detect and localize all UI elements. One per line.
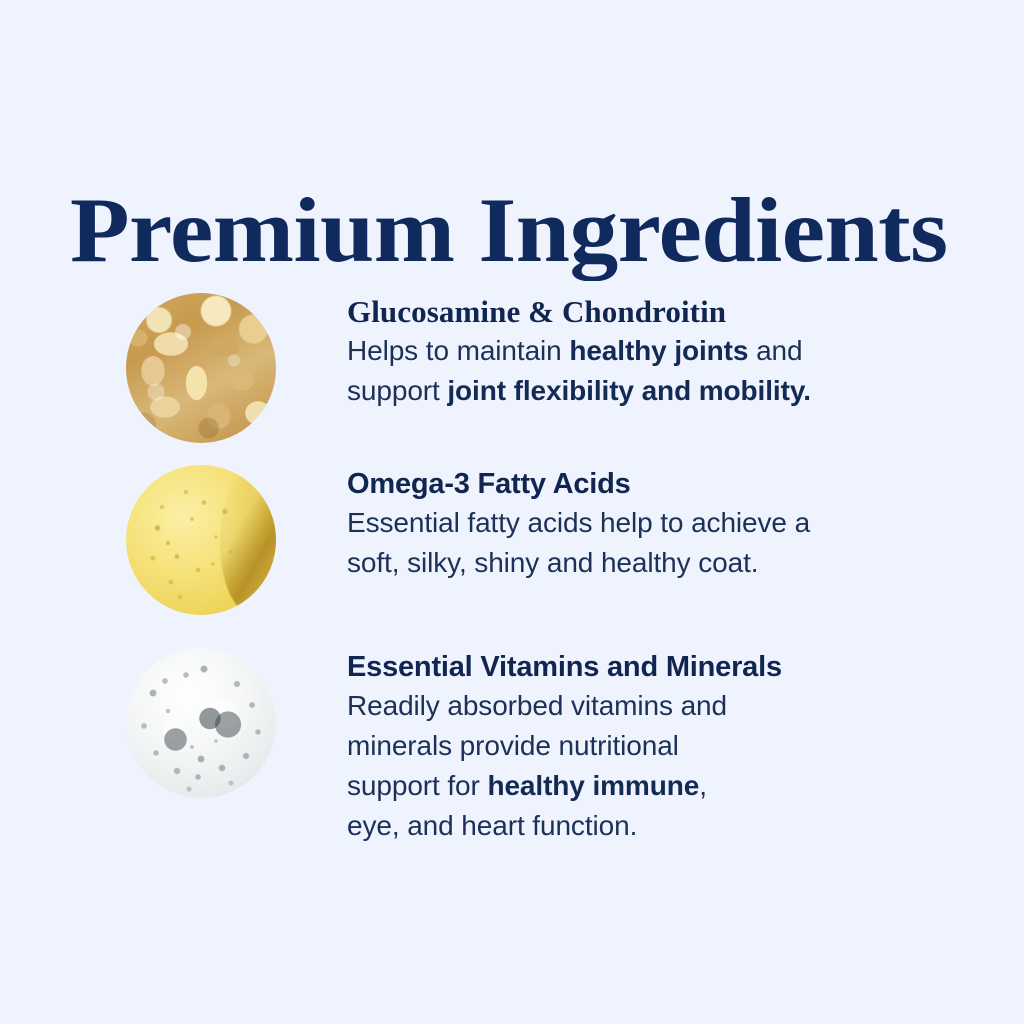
ingredient-list: Glucosamine & Chondroitin Helps to maint… <box>0 0 1024 1024</box>
description-emphasis: joint flexibility and mobility. <box>447 375 811 406</box>
ingredient-text: Omega-3 Fatty Acids Essential fatty acid… <box>347 465 927 583</box>
description-emphasis: healthy immune <box>487 770 699 801</box>
description-emphasis: healthy joints <box>569 335 748 366</box>
ingredient-heading: Essential Vitamins and Minerals <box>347 648 927 686</box>
description-line: soft, silky, shiny and healthy coat. <box>347 547 758 578</box>
description-text: Helps to maintain <box>347 335 569 366</box>
ingredient-description: Readily absorbed vitamins and minerals p… <box>347 686 927 846</box>
description-line: Readily absorbed vitamins and <box>347 690 727 721</box>
ingredient-description: Helps to maintain healthy joints and sup… <box>347 331 927 411</box>
description-line: Helps to maintain healthy joints and <box>347 335 803 366</box>
ingredient-description: Essential fatty acids help to achieve a … <box>347 503 927 583</box>
ingredient-thumbnail-wrap <box>126 648 290 798</box>
yellow-oil-drop-thumbnail <box>126 465 276 615</box>
description-line: support joint flexibility and mobility. <box>347 375 811 406</box>
ingredient-text: Glucosamine & Chondroitin Helps to maint… <box>347 293 927 411</box>
description-line: support for healthy immune, <box>347 770 707 801</box>
ingredient-thumbnail-wrap <box>126 465 290 615</box>
description-text: support <box>347 375 447 406</box>
ingredient-thumbnail-wrap <box>126 293 290 443</box>
description-text: support for <box>347 770 487 801</box>
description-text: and <box>748 335 802 366</box>
description-line: minerals provide nutritional <box>347 730 679 761</box>
ingredient-heading: Glucosamine & Chondroitin <box>347 293 927 331</box>
description-line: Essential fatty acids help to achieve a <box>347 507 810 538</box>
description-line: eye, and heart function. <box>347 810 637 841</box>
resin-granules-thumbnail <box>126 293 276 443</box>
ingredients-page: Premium Ingredients Glucosamine & Chondr… <box>0 0 1024 1024</box>
ingredient-heading: Omega-3 Fatty Acids <box>347 465 927 503</box>
description-text: , <box>699 770 707 801</box>
ingredient-text: Essential Vitamins and Minerals Readily … <box>347 648 927 846</box>
clear-gel-bubbles-thumbnail <box>126 648 276 798</box>
